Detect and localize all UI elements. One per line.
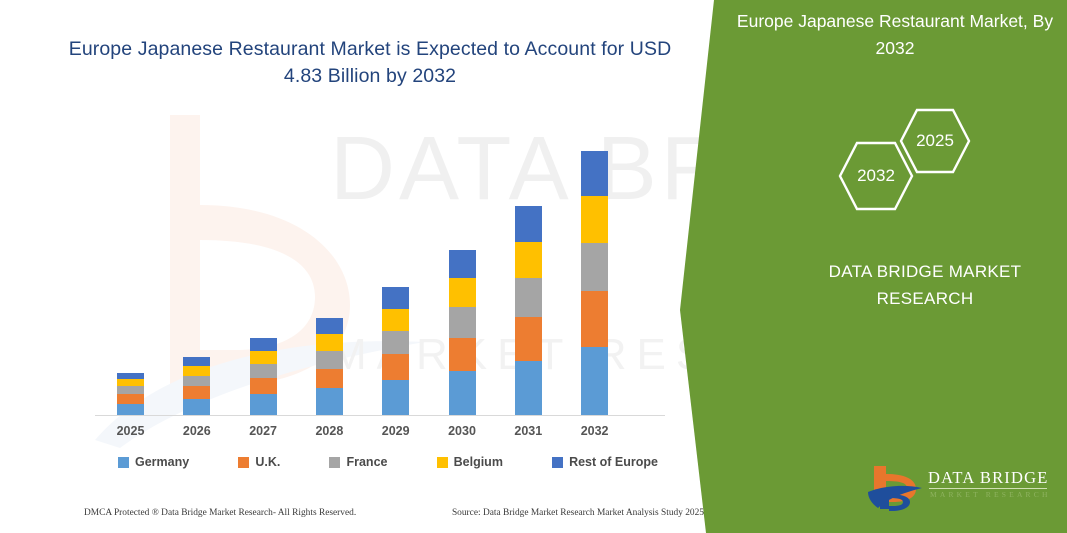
logo-primary-text: DATA BRIDGE xyxy=(928,468,1049,488)
legend-label: Belgium xyxy=(454,455,503,469)
bar-segment-france-2028 xyxy=(316,351,343,369)
infographic-root: DATA BRIDGE MARKET RESEARCH Europe Japan… xyxy=(0,0,1067,533)
bar-segment-u-k--2029 xyxy=(382,354,409,381)
legend-swatch-icon xyxy=(552,457,563,468)
bar-2029 xyxy=(382,287,409,415)
bar-2025 xyxy=(117,372,144,415)
chart-plot-area: 20252026202720282029203020312032 xyxy=(0,0,700,415)
x-label-2032: 2032 xyxy=(565,424,625,438)
hex-badge-2025: 2025 xyxy=(898,107,972,175)
legend-label: Germany xyxy=(135,455,189,469)
x-label-2031: 2031 xyxy=(498,424,558,438)
legend-item-germany: Germany xyxy=(118,455,189,469)
bar-segment-u-k--2032 xyxy=(581,291,608,347)
bar-segment-rest-of-europe-2026 xyxy=(183,357,210,366)
bar-segment-u-k--2027 xyxy=(250,378,277,394)
bar-segment-u-k--2028 xyxy=(316,369,343,389)
bar-2028 xyxy=(316,318,343,415)
bar-segment-belgium-2025 xyxy=(117,379,144,386)
footer: DMCA Protected ® Data Bridge Market Rese… xyxy=(84,508,704,518)
bar-segment-germany-2032 xyxy=(581,347,608,415)
bar-segment-rest-of-europe-2029 xyxy=(382,287,409,308)
hex-badge-2025-label: 2025 xyxy=(916,131,954,151)
bar-segment-france-2029 xyxy=(382,331,409,354)
bar-segment-u-k--2026 xyxy=(183,386,210,399)
bar-segment-belgium-2028 xyxy=(316,334,343,351)
x-label-2026: 2026 xyxy=(167,424,227,438)
bar-segment-germany-2026 xyxy=(183,399,210,415)
logo-secondary-text: MARKET RESEARCH xyxy=(930,490,1051,499)
hex-badge-2032-label: 2032 xyxy=(857,166,895,186)
x-label-2030: 2030 xyxy=(432,424,492,438)
bar-segment-rest-of-europe-2025 xyxy=(117,373,144,380)
x-label-2027: 2027 xyxy=(233,424,293,438)
x-label-2025: 2025 xyxy=(101,424,161,438)
bar-segment-germany-2028 xyxy=(316,388,343,415)
legend-item-france: France xyxy=(329,455,387,469)
bar-segment-u-k--2031 xyxy=(515,317,542,361)
bar-segment-germany-2025 xyxy=(117,404,144,415)
x-label-2029: 2029 xyxy=(366,424,426,438)
bar-segment-rest-of-europe-2030 xyxy=(449,250,476,278)
footer-source: Source: Data Bridge Market Research Mark… xyxy=(452,508,704,518)
bar-segment-france-2032 xyxy=(581,243,608,291)
bar-segment-germany-2027 xyxy=(250,394,277,415)
bar-segment-france-2025 xyxy=(117,386,144,394)
bar-segment-belgium-2027 xyxy=(250,351,277,364)
logo-divider xyxy=(929,488,1047,489)
bar-segment-belgium-2026 xyxy=(183,366,210,376)
legend-swatch-icon xyxy=(437,457,448,468)
bar-segment-rest-of-europe-2027 xyxy=(250,338,277,351)
bar-segment-france-2031 xyxy=(515,278,542,317)
bar-segment-belgium-2029 xyxy=(382,309,409,331)
legend-item-rest-of-europe: Rest of Europe xyxy=(552,455,658,469)
bar-segment-belgium-2031 xyxy=(515,242,542,279)
legend-item-u-k-: U.K. xyxy=(238,455,280,469)
bar-segment-rest-of-europe-2032 xyxy=(581,151,608,197)
chart-legend: GermanyU.K.FranceBelgiumRest of Europe xyxy=(118,455,658,469)
bar-segment-germany-2029 xyxy=(382,380,409,415)
dbmr-logo-mark xyxy=(866,462,926,514)
bar-segment-belgium-2030 xyxy=(449,278,476,307)
bar-2026 xyxy=(183,357,210,415)
bar-segment-germany-2031 xyxy=(515,361,542,415)
bar-2027 xyxy=(250,338,277,415)
bar-segment-u-k--2025 xyxy=(117,394,144,403)
bar-segment-belgium-2032 xyxy=(581,196,608,243)
legend-swatch-icon xyxy=(329,457,340,468)
legend-swatch-icon xyxy=(118,457,129,468)
x-axis-line xyxy=(95,415,665,416)
footer-copyright: DMCA Protected ® Data Bridge Market Rese… xyxy=(84,508,356,518)
bar-segment-france-2027 xyxy=(250,364,277,378)
legend-swatch-icon xyxy=(238,457,249,468)
panel-brand-name: DATA BRIDGE MARKET RESEARCH xyxy=(790,258,1060,312)
legend-item-belgium: Belgium xyxy=(437,455,503,469)
panel-title: Europe Japanese Restaurant Market, By 20… xyxy=(735,8,1055,62)
bar-segment-france-2026 xyxy=(183,376,210,387)
bar-segment-rest-of-europe-2028 xyxy=(316,318,343,334)
bar-2031 xyxy=(515,206,542,415)
bar-segment-france-2030 xyxy=(449,307,476,338)
legend-label: France xyxy=(346,455,387,469)
bar-segment-germany-2030 xyxy=(449,371,476,415)
x-label-2028: 2028 xyxy=(299,424,359,438)
bar-segment-u-k--2030 xyxy=(449,338,476,371)
legend-label: U.K. xyxy=(255,455,280,469)
bar-2032 xyxy=(581,151,608,415)
legend-label: Rest of Europe xyxy=(569,455,658,469)
dbmr-logo: DATA BRIDGE MARKET RESEARCH xyxy=(866,462,1051,514)
bar-2030 xyxy=(449,250,476,415)
bar-segment-rest-of-europe-2031 xyxy=(515,206,542,242)
